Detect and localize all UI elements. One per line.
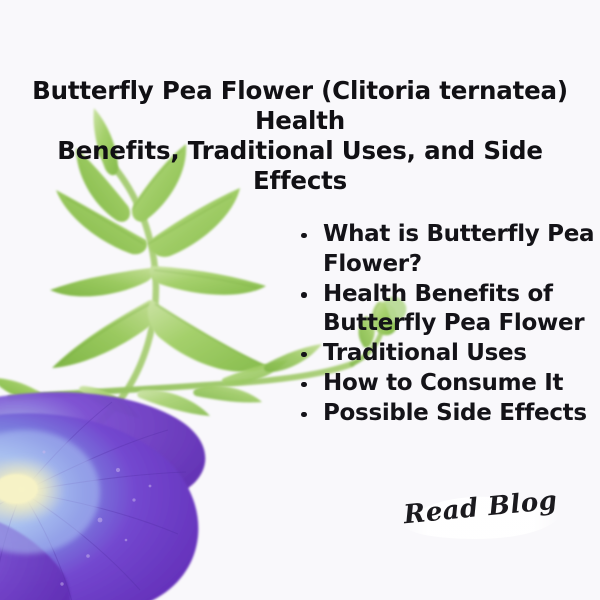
bullet-icon	[301, 412, 307, 418]
bullet-icon	[301, 292, 307, 298]
page-title-line-1: Butterfly Pea Flower (Clitoria ternatea)…	[30, 76, 570, 136]
list-item: How to Consume It	[296, 369, 596, 399]
leaf-cluster-lower	[0, 344, 322, 418]
list-item-label: What is Butterfly Pea Flower?	[323, 221, 594, 277]
butterfly-pea-flower-bloom	[0, 392, 205, 600]
poster-canvas: Butterfly Pea Flower (Clitoria ternatea)…	[0, 0, 600, 600]
read-blog-button[interactable]: Read Blog	[398, 485, 563, 547]
bullet-icon	[301, 352, 307, 358]
list-item-label: How to Consume It	[323, 370, 563, 396]
bullet-icon	[301, 382, 307, 388]
list-item: Possible Side Effects	[296, 399, 596, 429]
list-item: Traditional Uses	[296, 339, 596, 369]
list-item-label: Traditional Uses	[323, 340, 527, 366]
list-item: Health Benefits of Butterfly Pea Flower	[296, 280, 596, 339]
page-title-line-2: Benefits, Traditional Uses, and Side Eff…	[30, 136, 570, 196]
page-title: Butterfly Pea Flower (Clitoria ternatea)…	[30, 76, 570, 196]
list-item: What is Butterfly Pea Flower?	[296, 220, 596, 279]
list-item-label: Possible Side Effects	[323, 400, 587, 426]
list-item-label: Health Benefits of Butterfly Pea Flower	[323, 281, 584, 337]
bullet-icon	[301, 233, 307, 239]
topic-list: What is Butterfly Pea Flower? Health Ben…	[296, 220, 596, 429]
